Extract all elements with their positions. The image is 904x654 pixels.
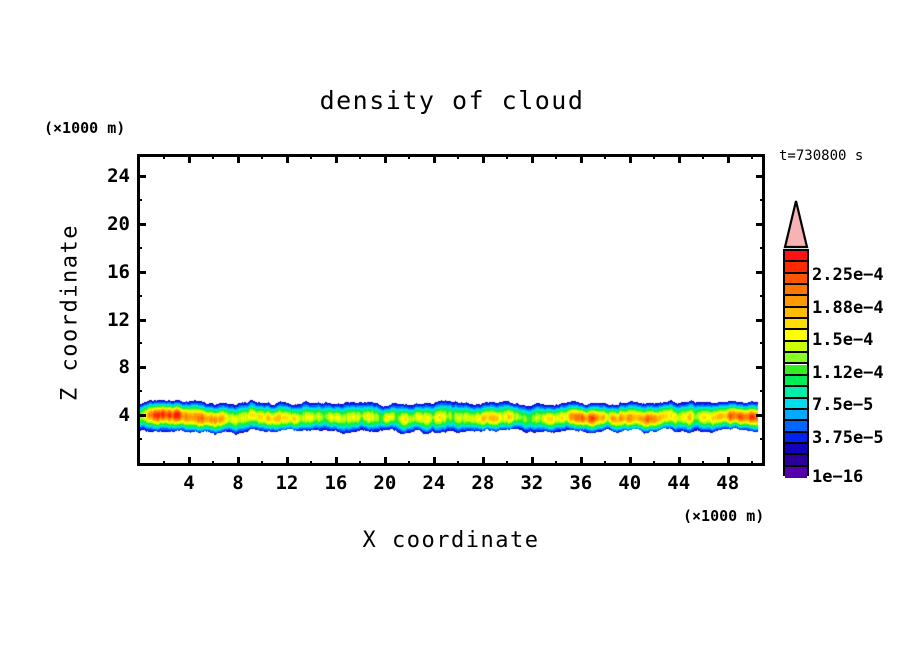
colorbar-tick-label: 1.12e−4 — [812, 363, 884, 383]
x-tick-minor-top — [359, 154, 361, 159]
x-tick-minor — [408, 461, 410, 466]
x-tick-minor — [555, 461, 557, 466]
y-tick-major-right — [756, 366, 765, 369]
y-tick-minor-right — [760, 247, 765, 249]
x-tick-major — [482, 457, 485, 466]
colorbar-band — [785, 285, 807, 296]
timestamp-annotation: t=730800 s — [779, 148, 863, 164]
colorbar-band — [785, 342, 807, 353]
x-tick-major — [531, 457, 534, 466]
y-tick-major — [137, 223, 146, 226]
colorbar-tick-label: 3.75e−5 — [812, 428, 884, 448]
x-tick-minor — [212, 461, 214, 466]
x-tick-minor-top — [261, 154, 263, 159]
x-tick-major-top — [482, 154, 485, 163]
colorbar-band — [785, 330, 807, 341]
x-tick-minor — [457, 461, 459, 466]
x-tick-major — [580, 457, 583, 466]
y-tick-major-right — [756, 175, 765, 178]
colorbar-band — [785, 251, 807, 262]
x-tick-major — [727, 457, 730, 466]
y-tick-minor — [137, 247, 142, 249]
colorbar-band — [785, 433, 807, 444]
y-tick-minor-right — [760, 390, 765, 392]
y-tick-major-right — [756, 223, 765, 226]
x-tick-minor — [751, 461, 753, 466]
x-tick-minor — [261, 461, 263, 466]
colorbar-band — [785, 319, 807, 330]
colorbar-tick-label: 1.88e−4 — [812, 298, 884, 318]
x-tick-minor-top — [751, 154, 753, 159]
y-tick-major — [137, 319, 146, 322]
colorbar-band — [785, 365, 807, 376]
y-tick-major-right — [756, 414, 765, 417]
colorbar-band — [785, 308, 807, 319]
x-axis-unit-label: (×1000 m) — [683, 507, 764, 525]
x-tick-minor-top — [604, 154, 606, 159]
x-tick-minor-top — [457, 154, 459, 159]
x-tick-minor — [702, 461, 704, 466]
x-tick-minor — [310, 461, 312, 466]
colorbar-band — [785, 467, 807, 478]
y-axis-tick-label: 12 — [78, 309, 130, 331]
x-tick-minor — [506, 461, 508, 466]
x-tick-major — [237, 457, 240, 466]
colorbar-band — [785, 376, 807, 387]
x-tick-major-top — [286, 154, 289, 163]
y-tick-minor — [137, 199, 142, 201]
x-tick-minor-top — [310, 154, 312, 159]
page-title: density of cloud — [0, 86, 904, 115]
y-tick-minor-right — [760, 295, 765, 297]
colorbar-tick-label: 7.5e−5 — [812, 395, 873, 415]
y-tick-major-right — [756, 271, 765, 274]
y-tick-major — [137, 175, 146, 178]
x-axis-title: X coordinate — [236, 528, 666, 553]
x-tick-minor — [653, 461, 655, 466]
y-tick-minor-right — [760, 199, 765, 201]
y-tick-minor-right — [760, 342, 765, 344]
colorbar-band — [785, 444, 807, 455]
y-axis-tick-label: 8 — [78, 356, 130, 378]
x-tick-major — [335, 457, 338, 466]
colorbar-band — [785, 262, 807, 273]
x-tick-major — [286, 457, 289, 466]
cloud-density-field — [140, 157, 762, 463]
colorbar-tick-label: 2.25e−4 — [812, 265, 884, 285]
x-tick-major-top — [629, 154, 632, 163]
x-tick-minor-top — [702, 154, 704, 159]
x-tick-minor — [163, 461, 165, 466]
x-tick-major — [188, 457, 191, 466]
x-tick-major-top — [531, 154, 534, 163]
colorbar-bands — [783, 249, 809, 476]
x-tick-minor — [359, 461, 361, 466]
figure-root: density of cloud (×1000 m) (×1000 m) X c… — [0, 0, 904, 654]
x-tick-minor-top — [653, 154, 655, 159]
x-tick-minor-top — [555, 154, 557, 159]
y-tick-major — [137, 366, 146, 369]
y-axis-tick-label: 24 — [78, 165, 130, 187]
z-axis-unit-label: (×1000 m) — [44, 119, 125, 137]
x-tick-major-top — [335, 154, 338, 163]
colorbar-band — [785, 399, 807, 410]
colorbar-band — [785, 296, 807, 307]
colorbar-band — [785, 387, 807, 398]
y-axis-tick-label: 20 — [78, 213, 130, 235]
y-tick-minor — [137, 342, 142, 344]
x-tick-major — [629, 457, 632, 466]
x-tick-minor-top — [408, 154, 410, 159]
colorbar-tick-label: 1.5e−4 — [812, 330, 873, 350]
colorbar — [783, 199, 809, 476]
x-tick-major-top — [384, 154, 387, 163]
colorbar-band — [785, 455, 807, 466]
x-axis-tick-label: 48 — [698, 472, 758, 494]
x-tick-major-top — [580, 154, 583, 163]
y-axis-tick-label: 16 — [78, 261, 130, 283]
colorbar-band — [785, 421, 807, 432]
colorbar-tick-label: 1e−16 — [812, 467, 863, 487]
x-tick-major-top — [433, 154, 436, 163]
plot-area — [137, 154, 765, 466]
colorbar-band — [785, 410, 807, 421]
x-tick-major-top — [237, 154, 240, 163]
x-tick-major-top — [727, 154, 730, 163]
colorbar-band — [785, 353, 807, 364]
y-tick-minor — [137, 390, 142, 392]
x-tick-minor-top — [212, 154, 214, 159]
colorbar-over-arrow-icon — [783, 199, 809, 249]
x-tick-major — [384, 457, 387, 466]
x-tick-major-top — [678, 154, 681, 163]
y-axis-tick-label: 4 — [78, 404, 130, 426]
x-tick-major — [678, 457, 681, 466]
x-tick-major-top — [188, 154, 191, 163]
y-tick-minor — [137, 295, 142, 297]
x-tick-minor-top — [506, 154, 508, 159]
colorbar-band — [785, 274, 807, 285]
x-tick-minor-top — [163, 154, 165, 159]
x-tick-major — [433, 457, 436, 466]
y-tick-minor — [137, 438, 142, 440]
y-tick-major-right — [756, 319, 765, 322]
y-tick-major — [137, 271, 146, 274]
y-tick-minor-right — [760, 438, 765, 440]
y-tick-major — [137, 414, 146, 417]
x-tick-minor — [604, 461, 606, 466]
